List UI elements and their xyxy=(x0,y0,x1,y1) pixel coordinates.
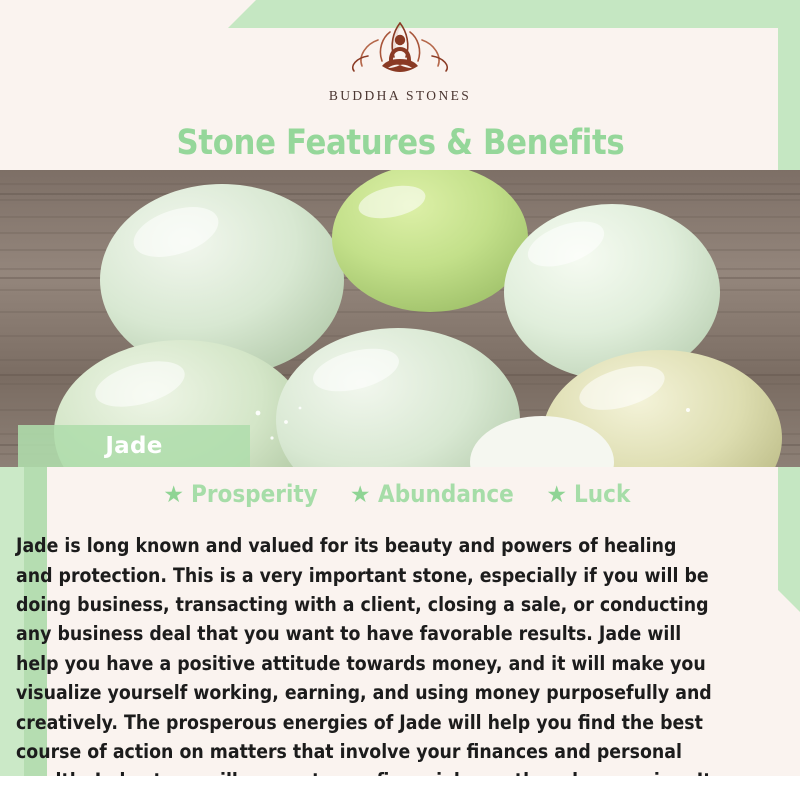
star-icon: ★ xyxy=(163,483,184,506)
benefits-row: ★ Prosperity ★ Abundance ★ Luck xyxy=(0,477,800,511)
stone-info-poster: BUDDHA STONES Stone Features & Benefits xyxy=(0,0,800,800)
stone-name-badge: Jade xyxy=(18,425,250,467)
brand-logo-area: BUDDHA STONES xyxy=(0,0,800,120)
benefit-item-prosperity: ★ Prosperity xyxy=(163,480,331,508)
stone-photo xyxy=(0,170,800,467)
page-title: Stone Features & Benefits xyxy=(176,123,624,163)
star-icon: ★ xyxy=(546,483,567,506)
benefit-label: Prosperity xyxy=(191,480,318,508)
page-title-band: Stone Features & Benefits xyxy=(0,116,800,170)
lotus-meditation-icon xyxy=(338,18,462,82)
benefit-item-abundance: ★ Abundance xyxy=(350,480,529,508)
benefit-item-luck: ★ Luck xyxy=(546,480,636,508)
star-icon: ★ xyxy=(350,483,371,506)
stone-description: Jade is long known and valued for its be… xyxy=(16,531,715,800)
bottom-white-strip xyxy=(0,776,800,800)
benefit-label: Abundance xyxy=(378,480,514,508)
brand-wordmark: BUDDHA STONES xyxy=(329,88,471,104)
stone-name-label: Jade xyxy=(105,433,162,459)
benefit-label: Luck xyxy=(574,480,630,508)
